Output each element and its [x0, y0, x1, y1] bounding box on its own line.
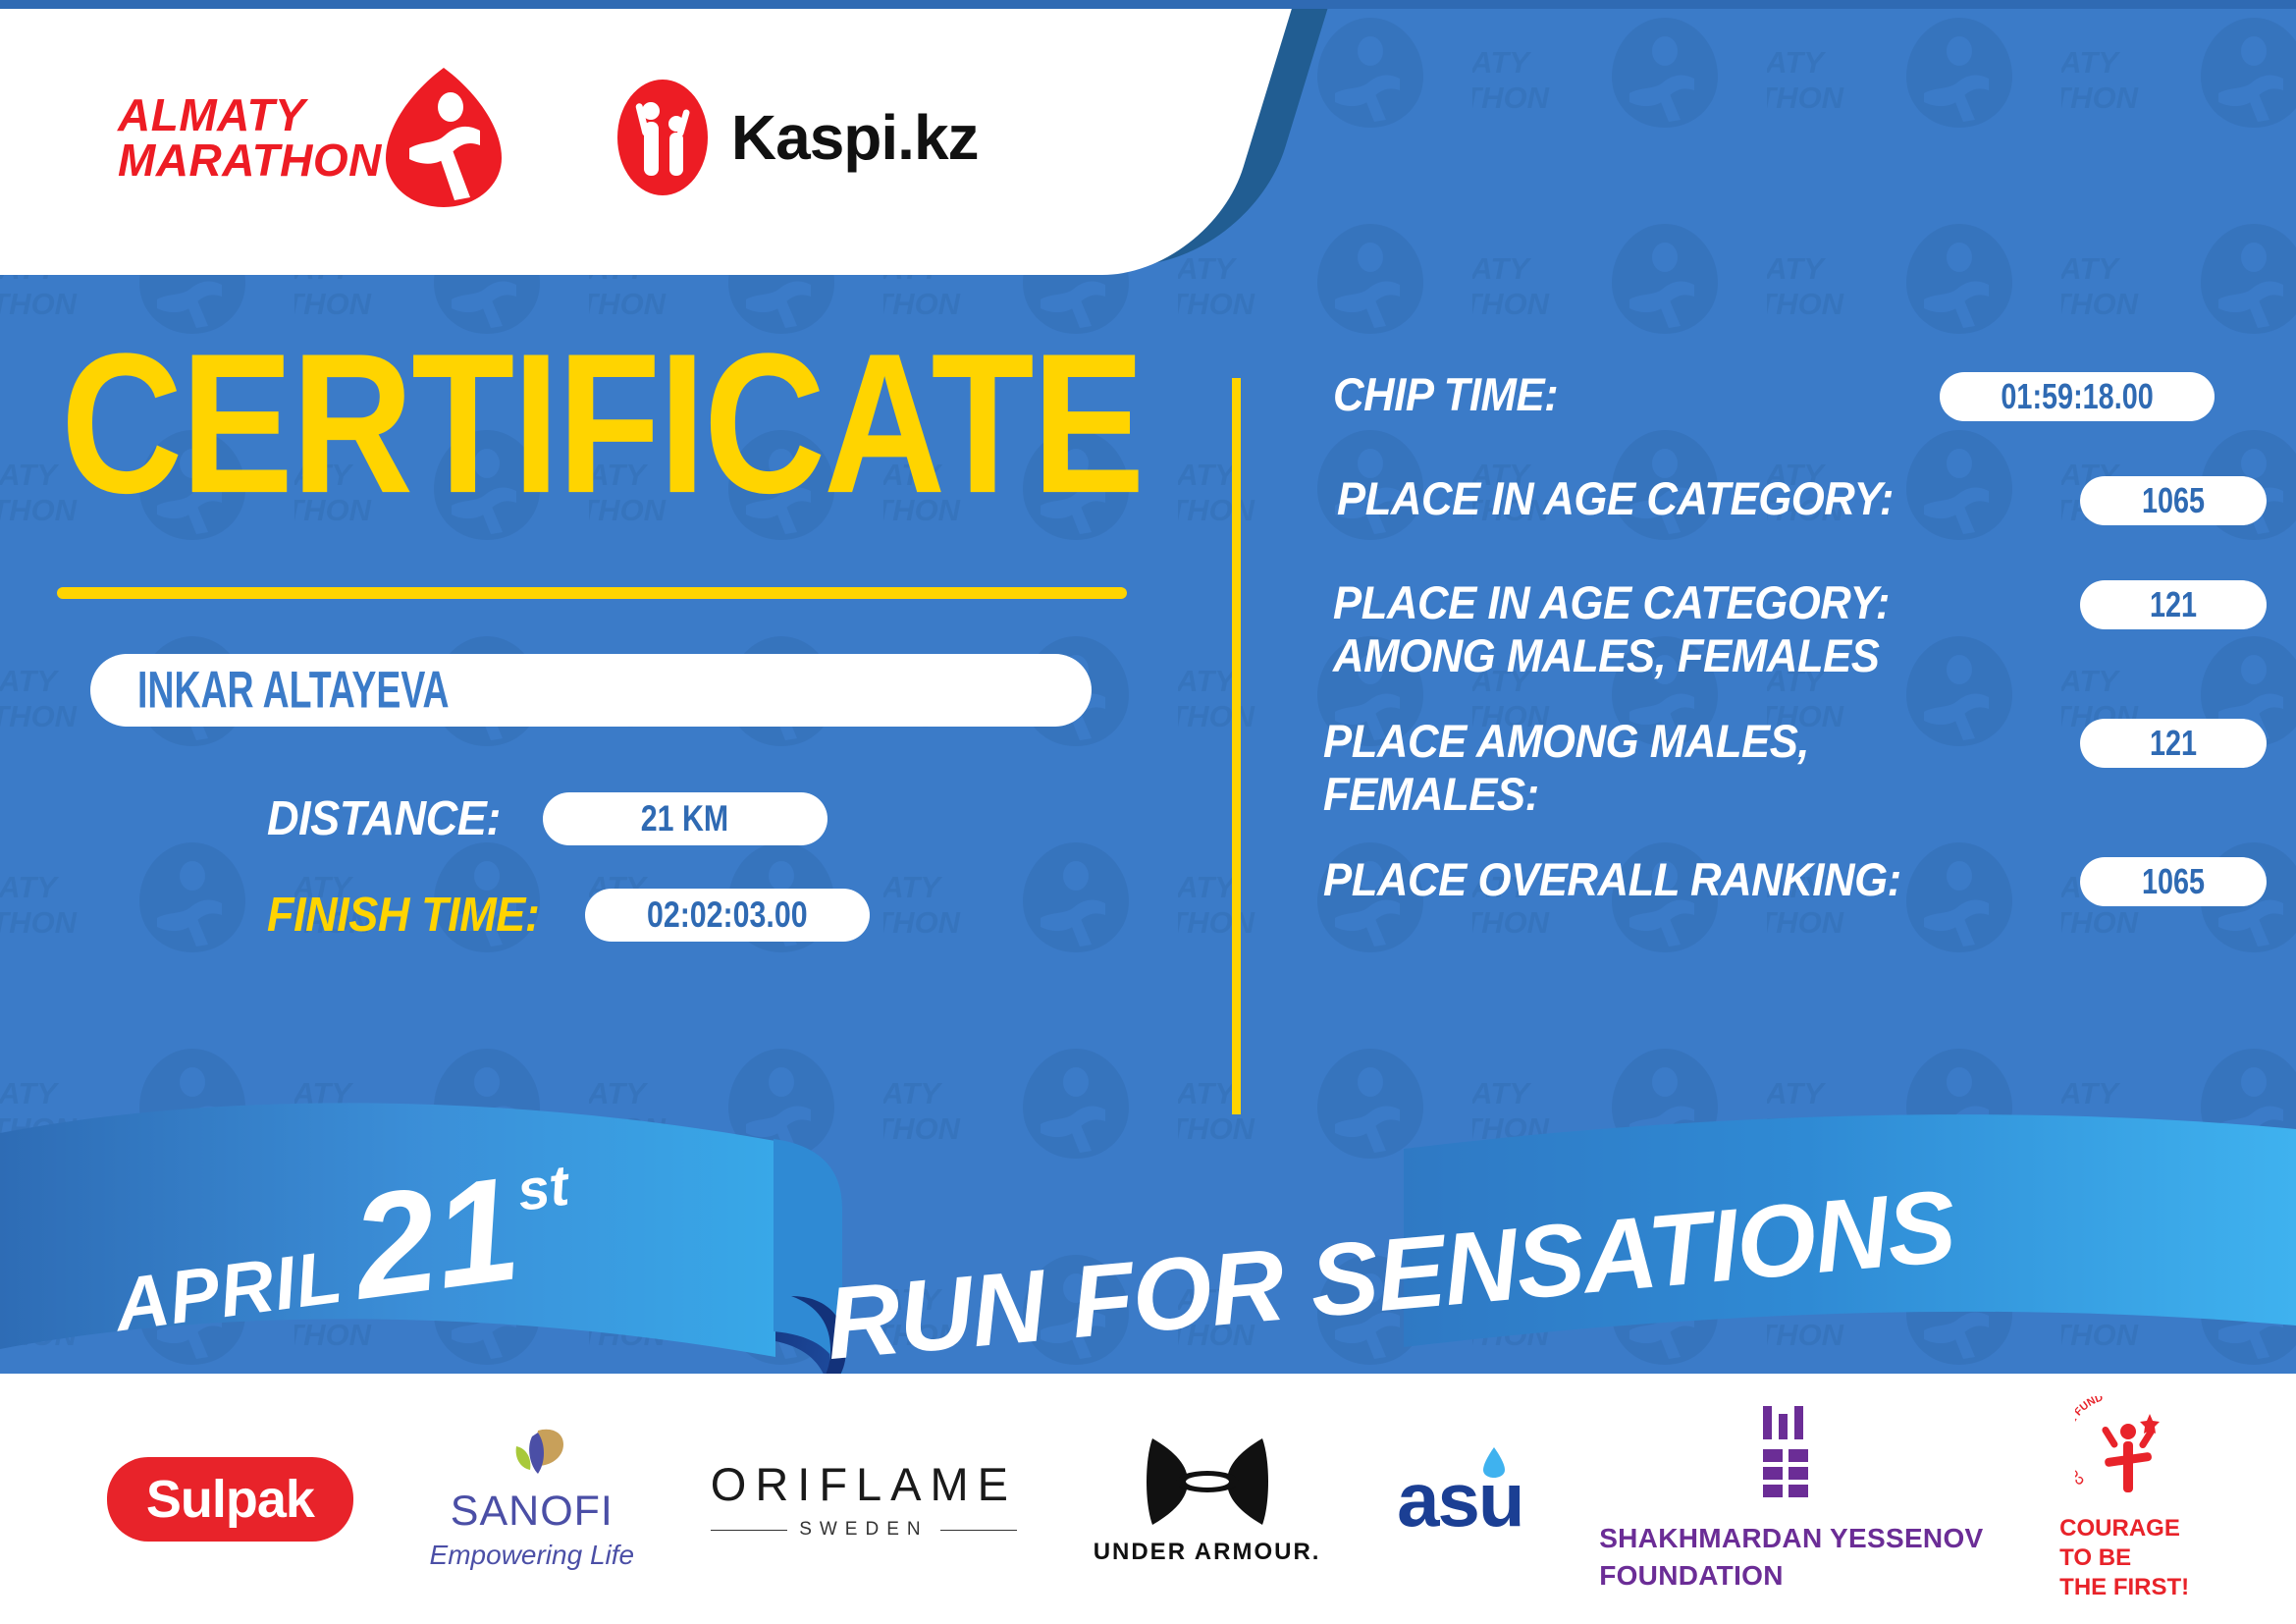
place-among-gender-label: PLACE AMONG MALES, FEMALES:: [1323, 715, 1809, 820]
svg-text:CORPORATE FUND: CORPORATE FUND: [2075, 1396, 2105, 1487]
sponsor-yessenov: SHAKHMARDAN YESSENOV FOUNDATION: [1599, 1404, 1983, 1595]
place-age-category-gender-value-pill: 121: [2080, 580, 2267, 629]
result-row-place-overall: PLACE OVERALL RANKING: 1065: [1276, 853, 2296, 924]
certificate-left-column: CERTIFICATE INKAR ALTAYEVA DISTANCE: 21 …: [0, 324, 1217, 984]
label-line-2: FEMALES:: [1323, 768, 1539, 820]
corporate-fund-line-2: TO BE: [2059, 1543, 2189, 1573]
oriflame-sub: SWEDEN: [711, 1519, 1017, 1541]
metric-row-distance: DISTANCE: 21 KM: [0, 791, 1217, 846]
sanofi-name: SANOFI: [451, 1488, 614, 1536]
kaspi-person-icon: [615, 78, 710, 197]
sanofi-icon: [495, 1427, 569, 1488]
label-line-2: AMONG MALES, FEMALES: [1333, 629, 1880, 681]
sponsor-sulpak: Sulpak: [107, 1457, 353, 1542]
sponsor-oriflame: ORIFLAME SWEDEN: [711, 1457, 1017, 1541]
sponsor-sanofi: SANOFI Empowering Life: [430, 1427, 635, 1571]
finish-time-label: FINISH TIME:: [267, 888, 539, 943]
metric-row-finish-time: FINISH TIME: 02:02:03.00: [0, 888, 1217, 943]
result-row-place-age-category-gender: PLACE IN AGE CATEGORY: AMONG MALES, FEMA…: [1276, 576, 2296, 681]
participant-name: INKAR ALTAYEVA: [137, 661, 450, 721]
sponsor-corporate-fund: CORPORATE FUND COURAGE TO BE THE FIRST!: [2059, 1396, 2189, 1602]
place-overall-value-pill: 1065: [2080, 857, 2267, 906]
finish-time-value-pill: 02:02:03.00: [585, 889, 870, 942]
results-column: CHIP TIME: 01:59:18.00 PLACE IN AGE CATE…: [1276, 368, 2296, 957]
finish-time-value: 02:02:03.00: [647, 894, 808, 936]
result-row-chip-time: CHIP TIME: 01:59:18.00: [1276, 368, 2296, 439]
sanofi-tagline: Empowering Life: [430, 1540, 635, 1571]
almaty-marathon-logo: ALMATY MARATHON: [118, 64, 507, 211]
oriflame-rule-left: [711, 1530, 787, 1531]
place-among-gender-value-pill: 121: [2080, 719, 2267, 768]
sulpak-badge: Sulpak: [107, 1457, 353, 1542]
logo-line-1: ALMATY: [118, 92, 382, 137]
certificate-page: ALMATY MARATHON ALMATY MARATHON: [0, 0, 2296, 1624]
oriflame-tagline: SWEDEN: [799, 1519, 928, 1541]
top-accent-strip: [0, 0, 2296, 9]
label-line-1: PLACE AMONG MALES,: [1323, 715, 1809, 767]
chip-time-value-pill: 01:59:18.00: [1940, 372, 2215, 421]
oriflame-name: ORIFLAME: [711, 1457, 1017, 1511]
distance-label: DISTANCE:: [267, 791, 501, 846]
place-overall-value: 1065: [2142, 861, 2205, 902]
place-age-category-gender-value: 121: [2150, 584, 2197, 625]
participant-name-field: INKAR ALTAYEVA: [90, 654, 1092, 727]
sulpak-name: Sulpak: [146, 1470, 314, 1529]
title-underline-rule: [57, 587, 1127, 599]
under-armour-icon: [1143, 1433, 1272, 1531]
asu-droplet-icon: [1481, 1445, 1507, 1479]
distance-value: 21 KM: [641, 798, 728, 839]
corporate-fund-line-3: THE FIRST!: [2059, 1573, 2189, 1602]
sponsor-under-armour: UNDER ARMOUR.: [1094, 1433, 1321, 1566]
yessenov-name-line-2: FOUNDATION: [1599, 1557, 1983, 1595]
certificate-metrics: DISTANCE: 21 KM FINISH TIME: 02:02:03.00: [0, 791, 1217, 943]
logo-line-2: MARATHON: [118, 137, 382, 183]
chip-time-label: CHIP TIME:: [1333, 368, 1558, 421]
vertical-divider: [1232, 378, 1241, 1114]
yessenov-name: SHAKHMARDAN YESSENOV FOUNDATION: [1599, 1520, 1983, 1595]
place-age-category-value: 1065: [2142, 480, 2205, 521]
runner-drop-icon: [380, 64, 507, 211]
ribbon-day-suffix: st: [513, 1153, 572, 1224]
certificate-title: CERTIFICATE: [0, 324, 1217, 523]
corporate-fund-line-1: COURAGE: [2059, 1514, 2189, 1543]
place-age-category-gender-label: PLACE IN AGE CATEGORY: AMONG MALES, FEMA…: [1333, 576, 1890, 681]
oriflame-rule-right: [940, 1530, 1017, 1531]
yessenov-mark-icon: [1757, 1404, 1826, 1500]
place-overall-label: PLACE OVERALL RANKING:: [1323, 853, 1901, 906]
kaspi-logo: Kaspi.kz: [615, 78, 979, 197]
sponsor-band: Sulpak SANOFI Empowering Life ORIFLAME S…: [0, 1374, 2296, 1624]
chip-time-value: 01:59:18.00: [2001, 376, 2153, 417]
ribbon-day: 21: [345, 1154, 526, 1321]
label-line-1: PLACE IN AGE CATEGORY:: [1333, 576, 1890, 628]
result-row-place-among-gender: PLACE AMONG MALES, FEMALES: 121: [1276, 715, 2296, 820]
result-row-place-age-category: PLACE IN AGE CATEGORY: 1065: [1276, 472, 2296, 543]
place-among-gender-value: 121: [2150, 723, 2197, 764]
distance-value-pill: 21 KM: [543, 792, 828, 845]
corporate-fund-arc-text: CORPORATE FUND: [2075, 1396, 2105, 1487]
under-armour-name: UNDER ARMOUR.: [1094, 1539, 1321, 1566]
sponsor-asu: asu: [1397, 1461, 1522, 1538]
header-band: ALMATY MARATHON: [0, 0, 1374, 295]
almaty-marathon-wordmark: ALMATY MARATHON: [118, 92, 382, 183]
kaspi-wordmark: Kaspi.kz: [731, 101, 979, 174]
place-age-category-label: PLACE IN AGE CATEGORY:: [1337, 472, 1894, 525]
corporate-fund-text: COURAGE TO BE THE FIRST!: [2059, 1514, 2189, 1602]
place-age-category-value-pill: 1065: [2080, 476, 2267, 525]
yessenov-name-line-1: SHAKHMARDAN YESSENOV: [1599, 1520, 1983, 1557]
corporate-fund-icon: CORPORATE FUND: [2075, 1396, 2173, 1502]
